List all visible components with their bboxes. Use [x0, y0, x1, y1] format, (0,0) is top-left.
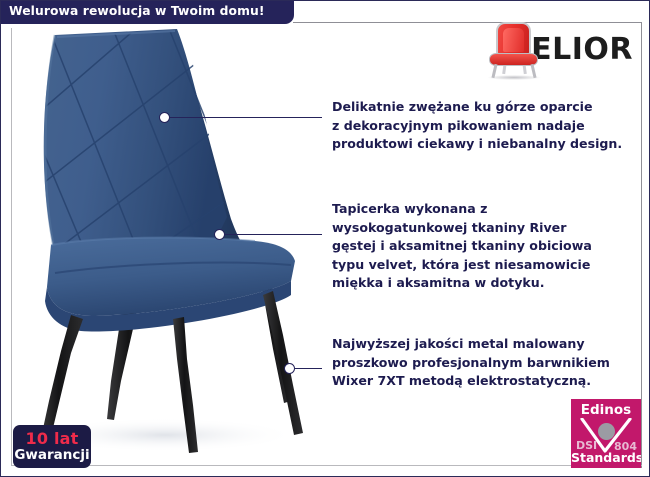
left-divider — [11, 28, 12, 465]
callout-marker-legs[interactable] — [284, 363, 295, 374]
edinos-subtitle: Standards — [571, 450, 641, 465]
bottom-divider — [11, 465, 642, 466]
chair-leg-right-front — [263, 291, 303, 435]
product-image — [15, 29, 330, 459]
callout-text-backrest: Delikatnie zwężane ku górze oparcie z de… — [332, 98, 644, 154]
callout-marker-upholstery[interactable] — [214, 229, 225, 240]
infographic-page: Welurowa rewolucja w Twoim domu! ELIOR — [0, 0, 650, 477]
warranty-label: Gwarancji — [14, 449, 89, 463]
chair-logo-icon — [483, 20, 523, 80]
callout-leader-backrest — [170, 117, 322, 118]
header-title: Welurowa rewolucja w Twoim domu! — [9, 4, 265, 18]
header-banner: Welurowa rewolucja w Twoim domu! — [0, 0, 294, 24]
callout-leader-upholstery — [225, 234, 322, 235]
edinos-dot-icon — [598, 423, 615, 440]
edinos-badge: Edinos DSI 804 Standards — [571, 399, 641, 468]
callout-leader-legs — [295, 368, 322, 369]
brand-logo: ELIOR — [483, 19, 633, 81]
callout-marker-backrest[interactable] — [159, 112, 170, 123]
callout-text-legs: Najwyższej jakości metal malowany proszk… — [332, 335, 644, 391]
warranty-badge: 10 lat Gwarancji — [13, 425, 91, 468]
warranty-years: 10 lat — [26, 431, 79, 447]
edinos-title: Edinos — [571, 402, 641, 418]
logo-chair-backrest — [496, 22, 531, 56]
brand-name: ELIOR — [531, 35, 633, 65]
callout-text-upholstery: Tapicerka wykonana z wysokogatunkowej tk… — [332, 200, 644, 293]
